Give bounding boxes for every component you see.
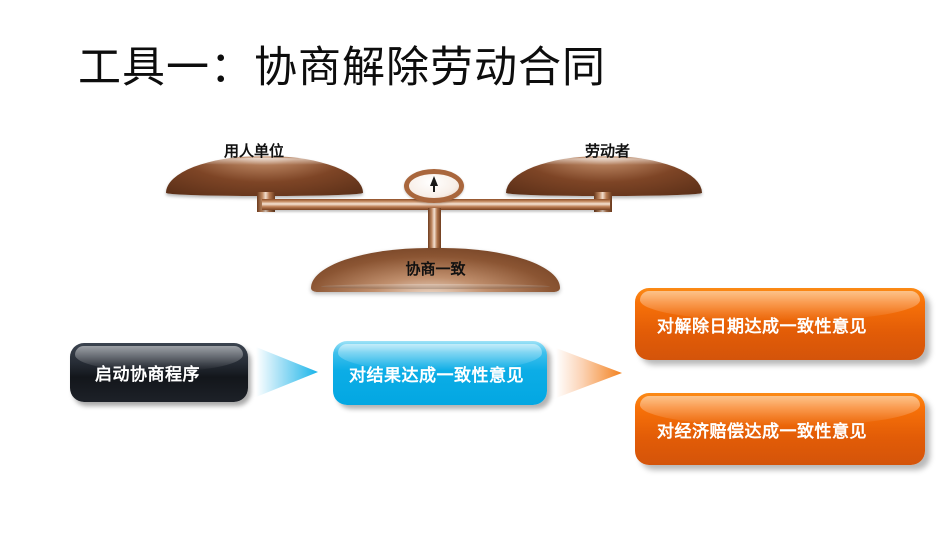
- flow-outcome-date[interactable]: 对解除日期达成一致性意见: [635, 288, 925, 360]
- flow-outcome-compensation-label: 对经济赔偿达成一致性意见: [657, 417, 867, 442]
- cyan-arrow-icon: [256, 346, 318, 398]
- flow-step-result-label: 对结果达成一致性意见: [349, 361, 524, 386]
- scale-label-right: 劳动者: [585, 140, 630, 161]
- scale-pan-left: [166, 156, 363, 196]
- flow-step-start-label: 启动协商程序: [95, 360, 200, 385]
- flow-outcome-compensation[interactable]: 对经济赔偿达成一致性意见: [635, 393, 925, 465]
- slide-canvas: 工具一：协商解除劳动合同 用人单位 劳动者 协商一致 启动协商程序: [0, 0, 950, 535]
- flow-outcome-date-label: 对解除日期达成一致性意见: [657, 312, 867, 337]
- scale-needle-tail-icon: [433, 185, 435, 192]
- scale-label-base: 协商一致: [311, 258, 560, 279]
- balance-scale-illustration: 用人单位 劳动者 协商一致: [0, 0, 950, 300]
- flow-step-result[interactable]: 对结果达成一致性意见: [333, 341, 547, 405]
- scale-pan-right: [506, 156, 702, 196]
- orange-arrow-icon: [556, 347, 622, 399]
- scale-label-left: 用人单位: [224, 140, 284, 161]
- flow-step-start[interactable]: 启动协商程序: [70, 343, 248, 402]
